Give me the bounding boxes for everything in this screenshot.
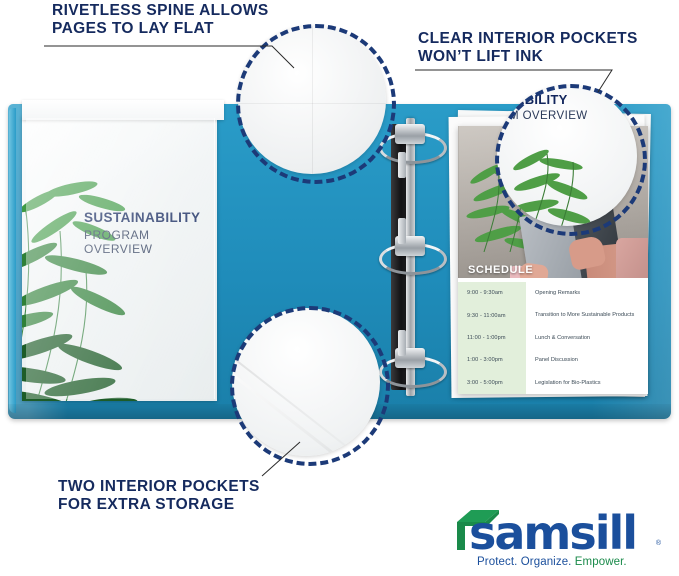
callout-two-pockets: TWO INTERIOR POCKETS FOR EXTRA STORAGE xyxy=(58,478,260,515)
leader-line-bottom-left xyxy=(262,442,300,476)
callout-line-2: FOR EXTRA STORAGE xyxy=(58,496,260,514)
logo-registered-mark: ® xyxy=(656,540,661,547)
logo-wordmark: samsill xyxy=(469,506,636,560)
samsill-logo: samsill ® Protect. Organize. Empower. xyxy=(455,504,663,572)
callout-rivetless-spine: RIVETLESS SPINE ALLOWS PAGES TO LAY FLAT xyxy=(52,2,269,39)
leader-line-top-right xyxy=(415,70,612,92)
callout-line-2: PAGES TO LAY FLAT xyxy=(52,20,269,38)
logo-tagline: Protect. Organize. Empower. xyxy=(477,556,627,568)
tagline-part-1: Protect. Organize. xyxy=(477,556,575,568)
callout-line-1: RIVETLESS SPINE ALLOWS xyxy=(52,2,269,20)
product-feature-callout-image: SUSTAINABILITY PROGRAM OVERVIEW xyxy=(0,0,679,576)
callout-line-1: TWO INTERIOR POCKETS xyxy=(58,478,260,496)
callout-line-1: CLEAR INTERIOR POCKETS xyxy=(418,30,638,48)
tagline-part-2: Empower. xyxy=(575,556,627,568)
callout-clear-pockets: CLEAR INTERIOR POCKETS WON’T LIFT INK xyxy=(418,30,638,67)
leader-line-top-left xyxy=(44,46,294,68)
callout-line-2: WON’T LIFT INK xyxy=(418,48,638,66)
